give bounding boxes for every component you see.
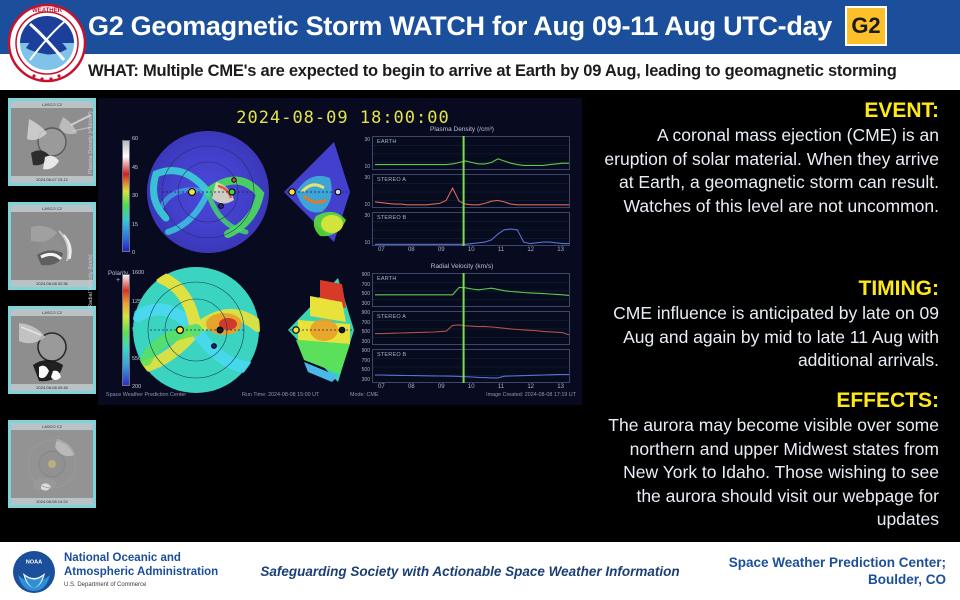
coronagraph-thumbnail-4[interactable]: LASCO C2 2024-08-08 14:24 [8, 420, 96, 508]
density-panel-stereo-b: STEREO B [372, 212, 570, 246]
solar-image-2 [11, 205, 93, 287]
thumbnail-top-caption: LASCO C2 [11, 423, 93, 430]
x-axis-ticks: 07 08 09 10 11 12 13 [372, 384, 570, 390]
density-meridional-plot [276, 138, 356, 246]
timing-block: TIMING: CME influence is anticipated by … [595, 276, 939, 373]
solar-image-4 [11, 423, 93, 505]
tick: 900 [346, 349, 370, 354]
tick: 11 [498, 247, 504, 253]
caption-created: Image Created: 2024-08-08 17:19 UT [486, 392, 576, 398]
tick: 700 [346, 321, 370, 326]
tick: 900 [346, 273, 370, 278]
velocity-panel-stereo-b: STEREO B [372, 349, 570, 383]
chart-title: Plasma Density (/cm³) [346, 126, 578, 133]
tick: 13 [557, 384, 564, 390]
tick: 300 [346, 340, 370, 345]
caption-run-time: Run Time: 2024-08-08 15:00 UT [242, 392, 319, 398]
colorbar-gradient [122, 140, 130, 252]
tick: 10 [346, 165, 370, 170]
timing-heading: TIMING: [595, 276, 939, 302]
footer-bar: NOAA National Oceanic and Atmospheric Ad… [0, 542, 960, 600]
event-heading: EVENT: [595, 98, 939, 124]
svg-text:NOAA: NOAA [26, 560, 42, 566]
tick: 900 [346, 311, 370, 316]
series-name: STEREO B [377, 215, 406, 221]
series-name: EARTH [377, 139, 397, 145]
series-name: EARTH [377, 276, 397, 282]
density-ecliptic-plot [146, 130, 270, 254]
thumbnail-bottom-caption: 2024-08-08 09:48 [11, 384, 93, 391]
tick: 08 [408, 247, 415, 253]
swpc-attribution: Space Weather Prediction Center; Boulder… [686, 542, 946, 600]
tick: 30 [346, 138, 370, 143]
tick: 700 [346, 283, 370, 288]
enlil-model-visualization[interactable]: 2024-08-09 18:00:00 Plasma Density (r²N/… [98, 98, 582, 405]
noaa-logo: NOAA [12, 550, 56, 594]
tick: 10 [468, 247, 475, 253]
tick: 1600 [132, 270, 150, 276]
event-block: EVENT: A coronal mass ejection (CME) is … [595, 98, 939, 218]
tick: 07 [378, 247, 385, 253]
tick: 09 [438, 384, 445, 390]
caption-mode: Mode: CME [350, 392, 378, 398]
chart-title: Radial Velocity (km/s) [346, 263, 578, 270]
tick: 10 [468, 384, 475, 390]
tick: 10 [346, 241, 370, 246]
tick: 500 [346, 368, 370, 373]
tick: 13 [557, 247, 564, 253]
series-name: STEREO A [377, 314, 406, 320]
velocity-panel-stereo-a: STEREO A [372, 311, 570, 345]
density-panel-earth: EARTH [372, 136, 570, 170]
space-weather-alert-graphic: G2 Geomagnetic Storm WATCH for Aug 09-11… [0, 0, 960, 600]
information-panel: EVENT: A coronal mass ejection (CME) is … [595, 98, 947, 538]
tick: 500 [346, 330, 370, 335]
tick: 10 [346, 203, 370, 208]
noaa-line-1: National Oceanic and [64, 552, 218, 566]
noaa-agency-text: National Oceanic and Atmospheric Adminis… [64, 552, 218, 588]
status-badge: G2 [845, 6, 887, 46]
solar-image-3 [11, 309, 93, 391]
series-name: STEREO B [377, 352, 406, 358]
x-axis-ticks: 07 08 09 10 11 12 13 [372, 247, 570, 253]
colorbar-label: Radial Velocity (km/s) [88, 254, 94, 308]
tick: 08 [408, 384, 415, 390]
tick: 300 [346, 302, 370, 307]
y-axis-ticks: 900 700 500 300 [346, 273, 370, 307]
timing-body: CME influence is anticipated by late on … [595, 302, 939, 373]
time-cursor [463, 136, 465, 246]
radial-velocity-timeseries[interactable]: Radial Velocity (km/s) 900 700 500 300 E… [346, 263, 578, 391]
national-weather-service-logo: WEATHER [6, 2, 88, 84]
density-panel-stereo-a: STEREO A [372, 174, 570, 208]
plasma-density-colorbar: Plasma Density (r²N/cm³) 60 45 30 15 0 P… [100, 136, 146, 286]
thumbnail-bottom-caption: 2024-08-07 23:12 [11, 176, 93, 183]
solar-image-1 [11, 101, 93, 183]
y-axis-ticks: 30 10 [346, 138, 370, 170]
y-axis-ticks: 30 10 [346, 176, 370, 208]
svg-text:WEATHER: WEATHER [32, 8, 63, 14]
y-axis-ticks: 900 700 500 300 [346, 349, 370, 383]
tick: 300 [346, 378, 370, 383]
velocity-panel-earth: EARTH [372, 273, 570, 307]
swpc-line-2: Boulder, CO [868, 571, 946, 588]
what-text: WHAT: Multiple CME's are expected to beg… [88, 52, 958, 90]
noaa-line-3: U.S. Department of Commerce [64, 582, 218, 588]
tick: 11 [498, 384, 504, 390]
tick: 09 [438, 247, 445, 253]
time-cursor [463, 273, 465, 383]
tick: 60 [132, 136, 150, 142]
thumbnail-bottom-caption: 2024-08-08 02:36 [11, 280, 93, 287]
series-name: STEREO A [377, 177, 406, 183]
thumbnail-top-caption: LASCO C2 [11, 101, 93, 108]
density-earth-trace [373, 137, 571, 171]
thumbnail-top-caption: LASCO C2 [11, 309, 93, 316]
tick: 12 [527, 384, 534, 390]
model-caption: Space Weather Prediction Center Run Time… [102, 392, 578, 402]
y-axis-ticks: 900 700 500 300 [346, 311, 370, 345]
tick: 700 [346, 359, 370, 364]
noaa-line-2: Atmospheric Administration [64, 566, 218, 580]
effects-heading: EFFECTS: [595, 388, 939, 414]
tick: 500 [346, 292, 370, 297]
thumbnail-top-caption: LASCO C2 [11, 205, 93, 212]
tick: 07 [378, 384, 385, 390]
coronagraph-thumbnail-3[interactable]: LASCO C2 2024-08-08 09:48 [8, 306, 96, 394]
colorbar-label: Plasma Density (r²N/cm³) [88, 111, 94, 174]
velocity-earth-trace [373, 274, 571, 308]
effects-block: EFFECTS: The aurora may become visible o… [595, 388, 939, 532]
page-title: G2 Geomagnetic Storm WATCH for Aug 09-11… [88, 6, 848, 46]
effects-body: The aurora may become visible over some … [595, 414, 939, 532]
tick: 30 [346, 176, 370, 181]
plasma-density-timeseries[interactable]: Plasma Density (/cm³) 30 10 EARTH 30 10 … [346, 126, 578, 254]
colorbar-gradient [122, 274, 130, 386]
thumbnail-bottom-caption: 2024-08-08 14:24 [11, 498, 93, 505]
tick: 200 [132, 384, 150, 390]
event-body: A coronal mass ejection (CME) is an erup… [595, 124, 939, 218]
main-content-area: LASCO C2 2024-08-07 23:12 LASCO C2 2024-… [0, 90, 960, 542]
tick: 45 [132, 165, 150, 171]
tick: 15 [132, 222, 150, 228]
caption-center: Space Weather Prediction Center [106, 392, 186, 398]
tick: 30 [346, 214, 370, 219]
coronagraph-thumbnail-1[interactable]: LASCO C2 2024-08-07 23:12 [8, 98, 96, 186]
swpc-line-1: Space Weather Prediction Center; [729, 554, 946, 571]
tick: 0 [132, 250, 150, 256]
coronagraph-thumbnail-2[interactable]: LASCO C2 2024-08-08 02:36 [8, 202, 96, 290]
tick: 12 [527, 247, 534, 253]
footer-tagline: Safeguarding Society with Actionable Spa… [250, 542, 690, 600]
velocity-ecliptic-plot [132, 266, 260, 394]
y-axis-ticks: 30 10 [346, 214, 370, 246]
